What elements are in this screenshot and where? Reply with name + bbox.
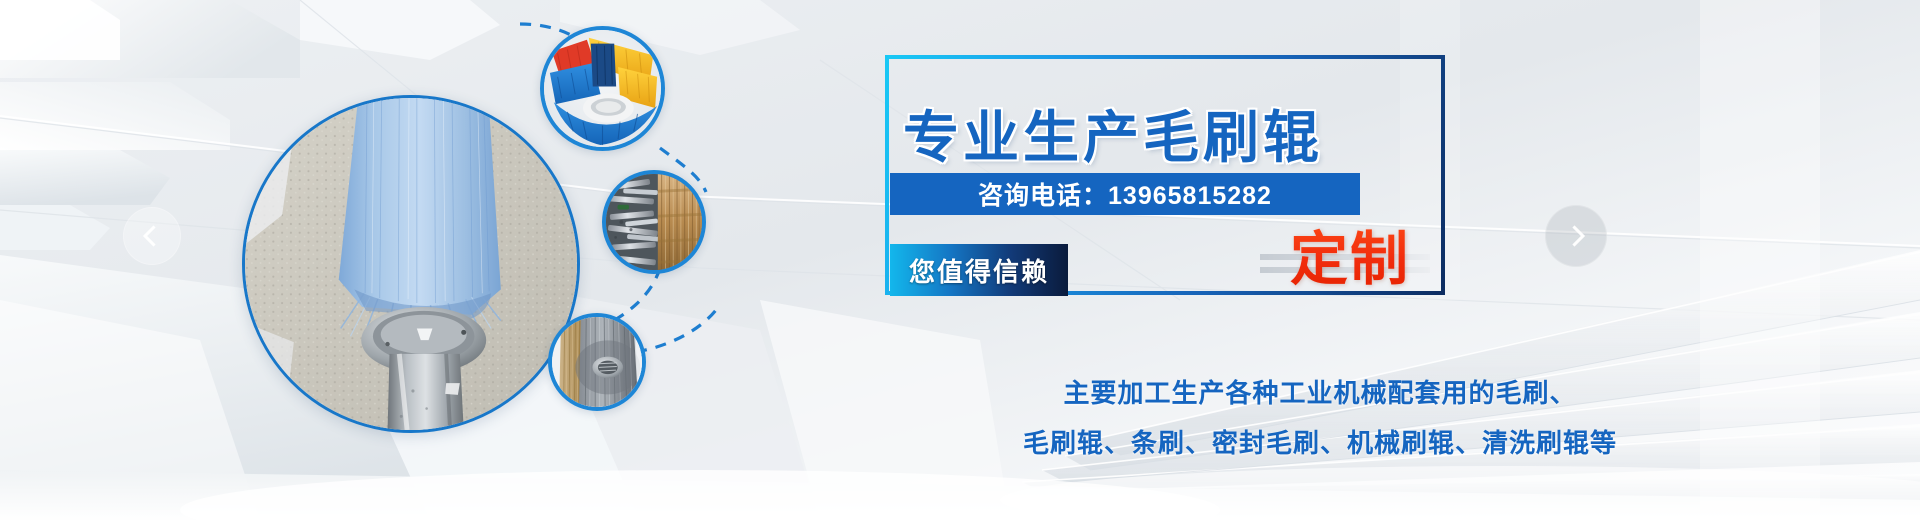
main-product-photo[interactable] bbox=[242, 95, 580, 433]
product-thumb-gray-roller[interactable] bbox=[548, 313, 646, 411]
description-line-1: 主要加工生产各种工业机械配套用的毛刷、 bbox=[1020, 380, 1620, 406]
description-block: 主要加工生产各种工业机械配套用的毛刷、 毛刷辊、条刷、密封毛刷、机械刷辊、清洗刷… bbox=[1020, 380, 1620, 456]
promo-banner: 专业生产毛刷辊 咨询电话：13965815282 您值得信赖 定制 主要加工生产… bbox=[0, 0, 1920, 520]
phone-band[interactable]: 咨询电话：13965815282 bbox=[890, 173, 1360, 215]
carousel-next-button[interactable] bbox=[1545, 205, 1607, 267]
phone-label: 咨询电话：13965815282 bbox=[978, 176, 1272, 212]
trust-badge: 您值得信赖 bbox=[890, 244, 1068, 296]
product-thumb-disc-brushes[interactable] bbox=[540, 26, 665, 151]
description-line-2: 毛刷辊、条刷、密封毛刷、机械刷辊、清洗刷辊等 bbox=[1020, 430, 1620, 456]
product-thumb-strip-brushes[interactable] bbox=[602, 170, 706, 274]
custom-callout: 定制 bbox=[1260, 212, 1520, 302]
trust-badge-label: 您值得信赖 bbox=[909, 252, 1049, 289]
carousel-prev-button[interactable] bbox=[123, 207, 181, 265]
chevron-right-icon bbox=[1564, 225, 1585, 246]
chevron-left-icon bbox=[143, 225, 164, 246]
custom-word: 定制 bbox=[1290, 212, 1410, 296]
page-title: 专业生产毛刷辊 bbox=[903, 93, 1323, 174]
